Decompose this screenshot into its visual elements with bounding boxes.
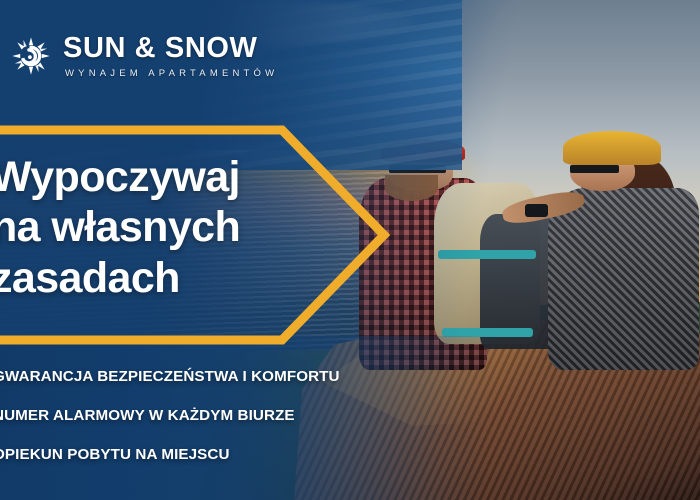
brand-tagline: WYNAJEM APARTAMENTÓW [65,69,278,79]
hero-headline: Wypoczywaj na własnych zasadach [0,152,321,303]
brand-logo[interactable]: SUN & SNOW WYNAJEM APARTAMENTÓW [8,33,278,79]
brand-name: SUN & SNOW [63,34,278,63]
promo-banner: SUN & SNOW WYNAJEM APARTAMENTÓW Wypoczyw… [0,0,700,500]
headline-line-1: Wypoczywaj [0,152,321,202]
sun-spiral-icon [8,33,54,79]
headline-line-2: na własnych [0,202,321,252]
feature-list: GWARANCJA BEZPIECZEŃSTWA I KOMFORTU NUME… [0,368,353,485]
feature-item-3: OPIEKUN POBYTU NA MIEJSCU [0,446,353,463]
headline-line-3: zasadach [0,253,321,303]
feature-item-2: NUMER ALARMOWY W KAŻDYM BIURZE [0,407,353,424]
feature-item-1: GWARANCJA BEZPIECZEŃSTWA I KOMFORTU [0,368,353,385]
